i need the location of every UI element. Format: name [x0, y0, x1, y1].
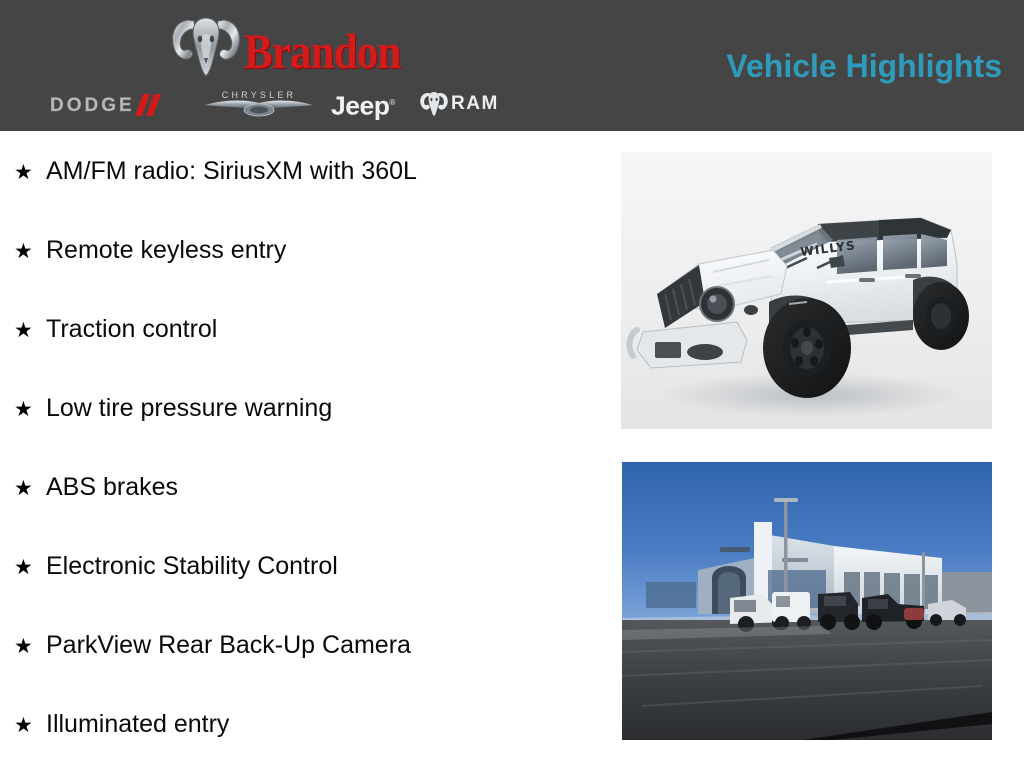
dodge-logo-text: DODGE: [50, 96, 135, 115]
dodge-logo: DODGE: [50, 94, 162, 116]
highlight-label: Traction control: [46, 315, 217, 343]
highlight-label: AM/FM radio: SiriusXM with 360L: [46, 157, 417, 185]
list-item: ★ Traction control: [0, 315, 600, 394]
star-bullet-icon: ★: [14, 633, 46, 661]
chrysler-logo: CHRYSLER: [203, 89, 315, 119]
chrysler-wings-icon: [203, 98, 315, 118]
star-bullet-icon: ★: [14, 396, 46, 424]
highlight-label: ABS brakes: [46, 473, 178, 501]
star-bullet-icon: ★: [14, 238, 46, 266]
highlights-list: ★ AM/FM radio: SiriusXM with 360L ★ Remo…: [0, 131, 600, 768]
ram-head-mark-icon: [419, 90, 449, 117]
page-header: Brandon DODGE CHRYSLER: [0, 0, 1024, 131]
dealership-photo: [622, 462, 992, 740]
ram-logo: RAM: [419, 90, 499, 117]
brand-logo-strip: DODGE CHRYSLER: [48, 88, 528, 122]
list-item: ★ AM/FM radio: SiriusXM with 360L: [0, 157, 600, 236]
dealer-brand-block: Brandon DODGE CHRYSLER: [48, 10, 528, 120]
star-bullet-icon: ★: [14, 317, 46, 345]
jeep-registered-mark: ®: [389, 98, 395, 107]
list-item: ★ Remote keyless entry: [0, 236, 600, 315]
list-item: ★ Low tire pressure warning: [0, 394, 600, 473]
highlight-label: ParkView Rear Back-Up Camera: [46, 631, 411, 659]
list-item: ★ Illuminated entry: [0, 710, 600, 768]
star-bullet-icon: ★: [14, 159, 46, 187]
dealer-name: Brandon: [244, 26, 400, 76]
dodge-slash-icon: [138, 94, 162, 116]
list-item: ★ ABS brakes: [0, 473, 600, 552]
vehicle-photo: WILLYS: [621, 152, 992, 429]
ram-head-icon: [168, 12, 244, 80]
page-title: Vehicle Highlights: [726, 48, 1002, 84]
star-bullet-icon: ★: [14, 712, 46, 740]
ram-logo-text: RAM: [451, 94, 499, 113]
star-bullet-icon: ★: [14, 475, 46, 503]
highlight-label: Low tire pressure warning: [46, 394, 332, 422]
vehicle-highlights-slide: Brandon DODGE CHRYSLER: [0, 0, 1024, 768]
list-item: ★ ParkView Rear Back-Up Camera: [0, 631, 600, 710]
list-item: ★ Electronic Stability Control: [0, 552, 600, 631]
star-bullet-icon: ★: [14, 554, 46, 582]
highlight-label: Remote keyless entry: [46, 236, 286, 264]
jeep-logo: Jeep®: [331, 89, 395, 120]
highlight-label: Illuminated entry: [46, 710, 229, 738]
highlight-label: Electronic Stability Control: [46, 552, 338, 580]
jeep-logo-text: Jeep: [331, 91, 389, 121]
